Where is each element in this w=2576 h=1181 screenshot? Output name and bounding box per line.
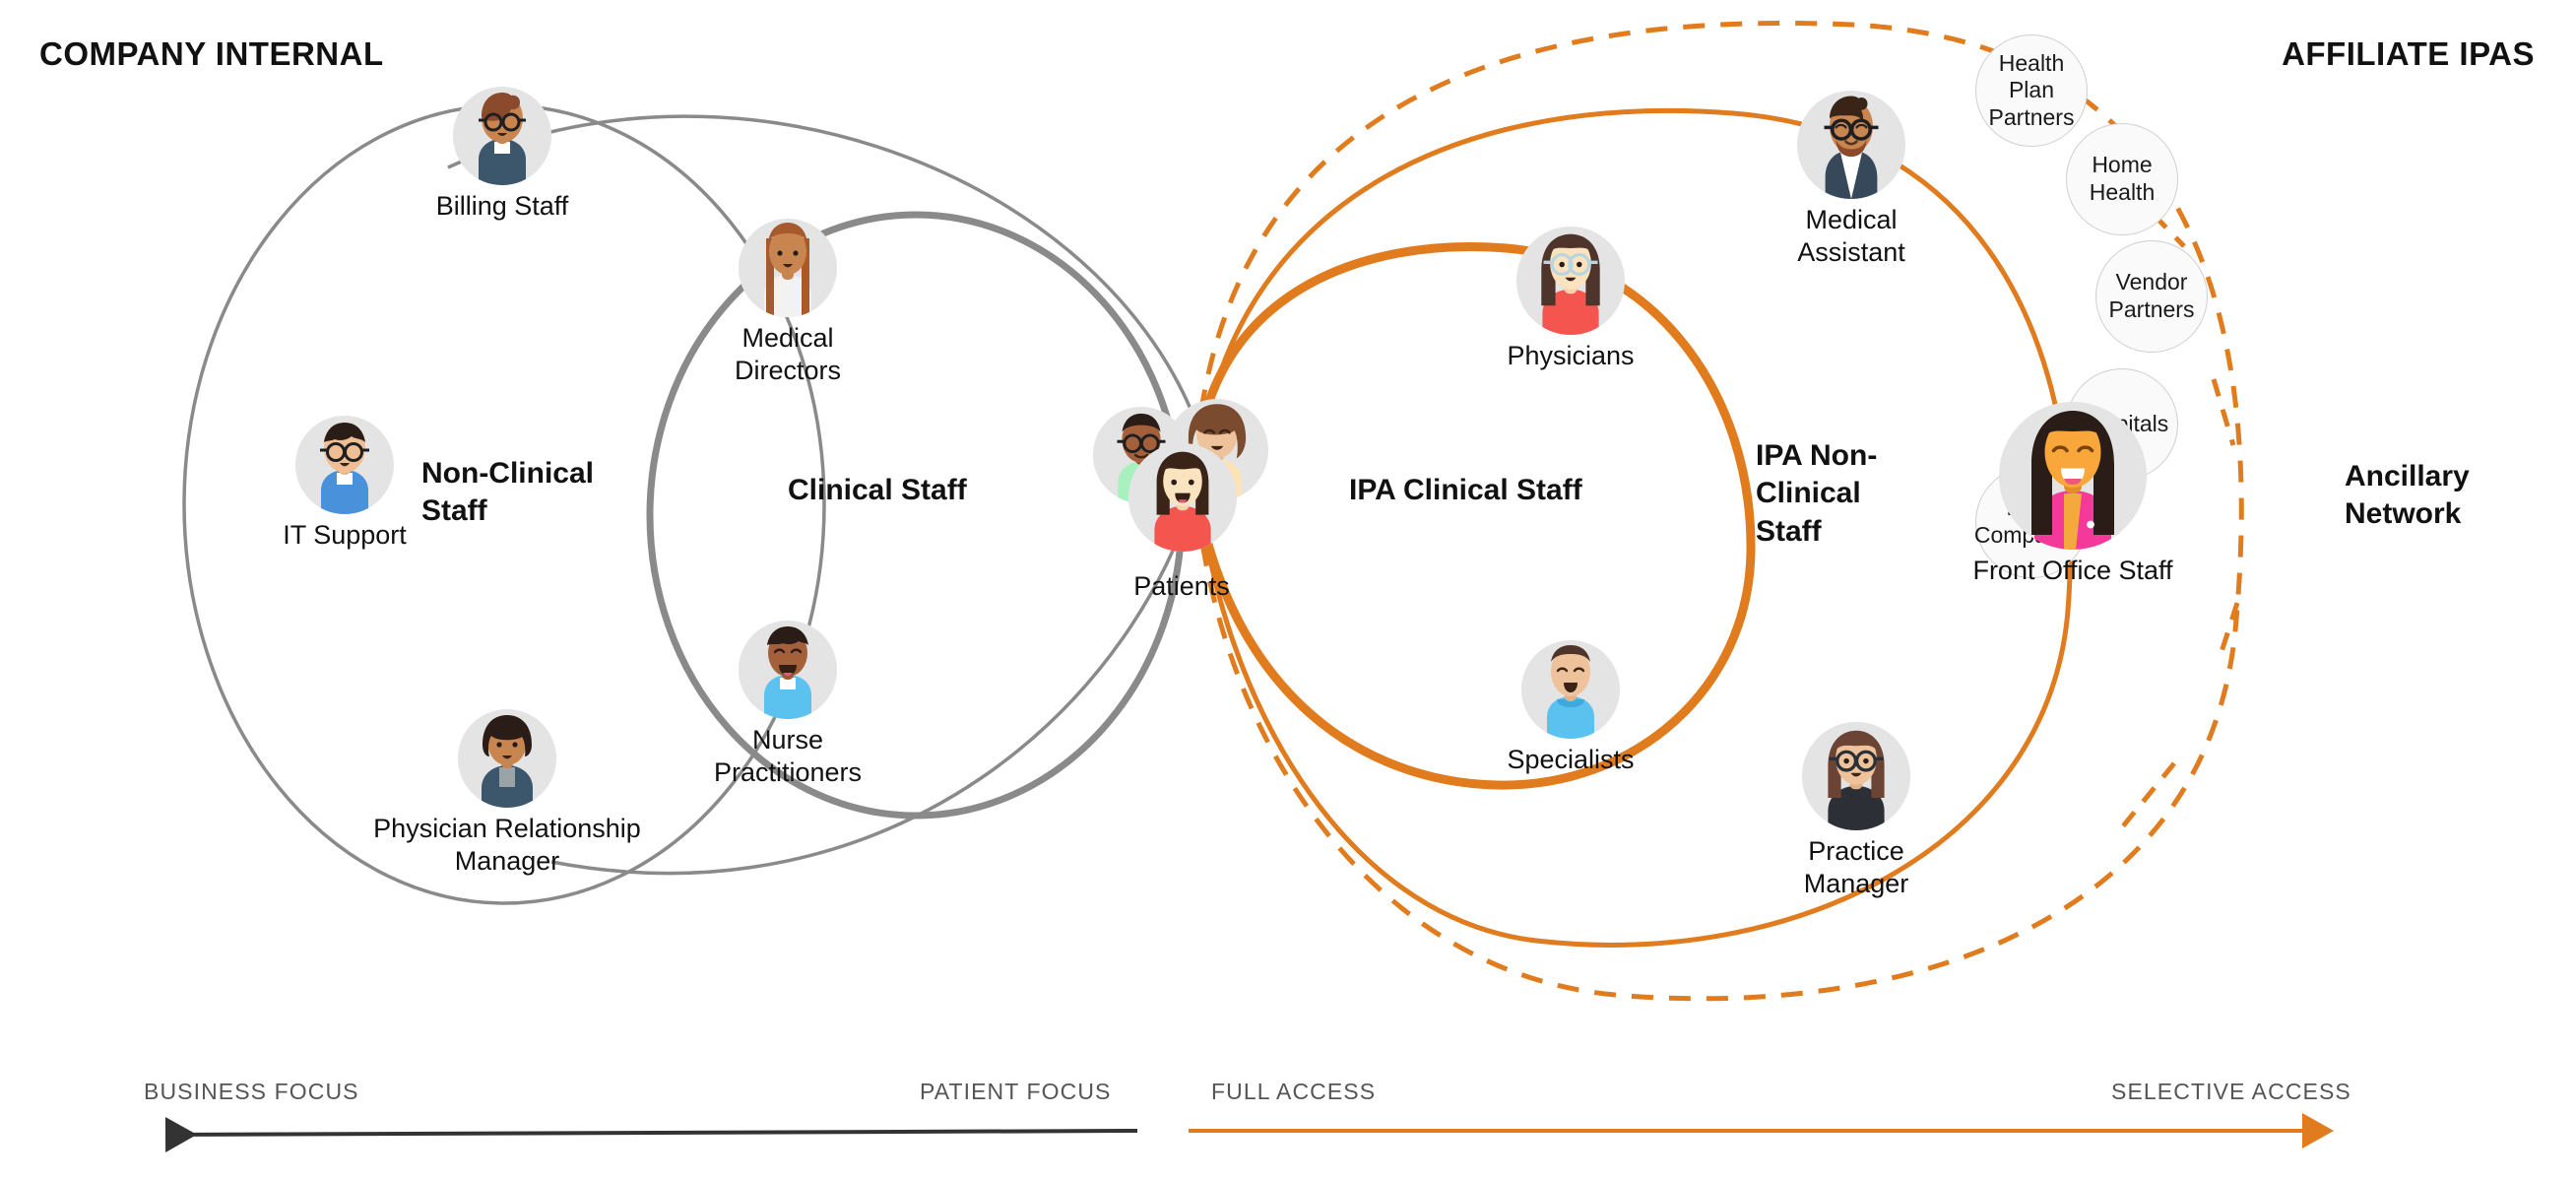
- axis-label-full-access: FULL ACCESS: [1211, 1079, 1376, 1105]
- group-label-ipa-clinical-staff: IPA Clinical Staff: [1349, 472, 1582, 509]
- node-label: IT Support: [283, 519, 407, 552]
- node-physicians[interactable]: Physicians: [1472, 227, 1669, 372]
- bubble-vendor-partners[interactable]: Vendor Partners: [2095, 240, 2208, 353]
- group-label-ancillary-network: Ancillary Network: [2345, 458, 2470, 534]
- node-medical-assistant[interactable]: Medical Assistant: [1753, 91, 1950, 269]
- medical-assistant-avatar: [1797, 91, 1905, 199]
- node-label: Practice Manager: [1804, 835, 1909, 900]
- bubble-home-health[interactable]: Home Health: [2066, 123, 2178, 235]
- node-label: Medical Directors: [735, 322, 841, 387]
- node-specialists[interactable]: Specialists: [1472, 640, 1669, 776]
- axis-label-patient-focus: PATIENT FOCUS: [920, 1079, 1111, 1105]
- billing-staff-avatar: [453, 87, 551, 185]
- group-label-ipa-non-clinical-staff: IPA Non- Clinical Staff: [1756, 437, 1877, 551]
- group-label-non-clinical-staff: Non-Clinical Staff: [421, 455, 594, 531]
- node-practice-manager[interactable]: Practice Manager: [1758, 722, 1955, 900]
- node-front-office-staff[interactable]: Front Office Staff: [1945, 402, 2201, 587]
- node-label: Front Office Staff: [1972, 555, 2172, 587]
- node-label: Billing Staff: [436, 190, 569, 223]
- axis-label-selective-access: SELECTIVE ACCESS: [2111, 1079, 2351, 1105]
- node-physician-relationship-manager[interactable]: Physician Relationship Manager: [364, 709, 650, 878]
- node-billing-staff[interactable]: Billing Staff: [414, 87, 591, 223]
- patients-avatar-cluster: [1093, 399, 1270, 576]
- physicians-avatar: [1516, 227, 1625, 335]
- node-label: Physicians: [1507, 340, 1634, 372]
- node-medical-directors[interactable]: Medical Directors: [689, 219, 886, 387]
- nurse-practitioners-avatar: [739, 621, 837, 719]
- bubble-health-plan-partners[interactable]: Health Plan Partners: [1975, 34, 2088, 147]
- medical-directors-avatar: [739, 219, 837, 317]
- node-nurse-practitioners[interactable]: Nurse Practitioners: [689, 621, 886, 789]
- bubble-label: Vendor Partners: [2109, 269, 2195, 323]
- node-label: Medical Assistant: [1797, 204, 1905, 269]
- practice-manager-avatar: [1802, 722, 1910, 830]
- bubble-label: Health Plan Partners: [1976, 50, 2087, 132]
- diagram-canvas: COMPANY INTERNAL AFFILIATE IPAS Non-Clin…: [0, 0, 2576, 1181]
- node-label: Physician Relationship Manager: [373, 813, 641, 878]
- front-office-staff-avatar: [1999, 402, 2147, 550]
- axis-label-business-focus: BUSINESS FOCUS: [144, 1079, 359, 1105]
- node-patients[interactable]: Patients: [1068, 399, 1295, 603]
- physician-relationship-manager-avatar: [458, 709, 556, 808]
- it-support-avatar: [295, 416, 394, 514]
- patient-girl-avatar: [1128, 443, 1237, 552]
- node-label: Specialists: [1507, 744, 1634, 776]
- focus-axis-line: [165, 1131, 1137, 1135]
- group-label-clinical-staff: Clinical Staff: [788, 472, 967, 509]
- header-affiliate-ipas: AFFILIATE IPAS: [2282, 35, 2535, 73]
- node-label: Nurse Practitioners: [714, 724, 862, 789]
- specialists-avatar: [1521, 640, 1620, 739]
- bubble-label: Home Health: [2067, 152, 2177, 206]
- node-it-support[interactable]: IT Support: [251, 416, 438, 552]
- header-company-internal: COMPANY INTERNAL: [39, 35, 384, 73]
